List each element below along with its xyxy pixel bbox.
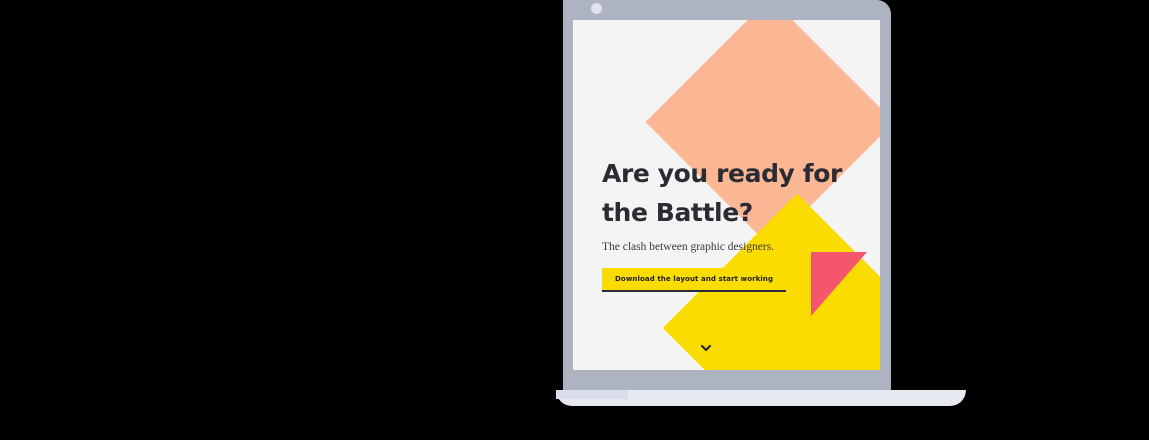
laptop-mockup: Are you ready for the Battle? The clash … — [540, 0, 980, 410]
hero-subtitle: The clash between graphic designers. — [602, 240, 862, 254]
scene-canvas: Are you ready for the Battle? The clash … — [0, 0, 1149, 440]
chevron-down-icon[interactable] — [699, 342, 713, 354]
download-layout-button[interactable]: Download the layout and start working — [602, 268, 786, 292]
webcam-icon — [591, 3, 602, 14]
page-title: Are you ready for the Battle? — [602, 154, 847, 232]
hero-section: Are you ready for the Battle? The clash … — [602, 154, 862, 292]
laptop-base-notch — [556, 390, 628, 399]
laptop-screen: Are you ready for the Battle? The clash … — [573, 20, 880, 370]
